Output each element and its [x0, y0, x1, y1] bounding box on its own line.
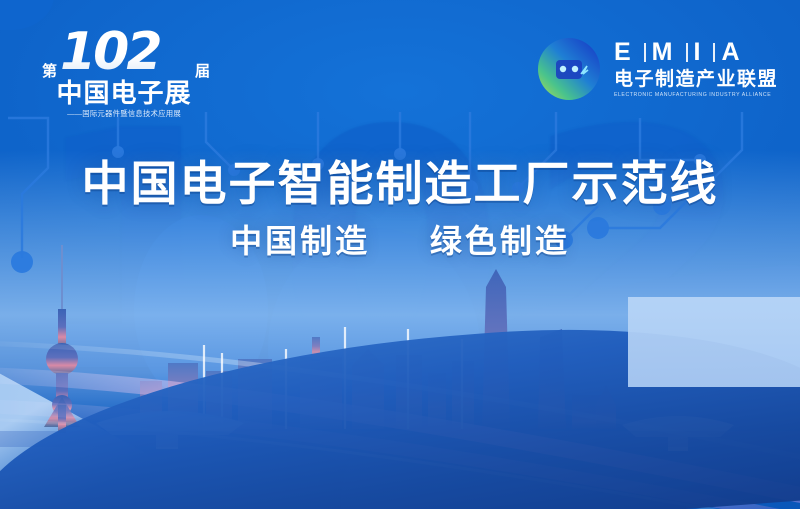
acronym-separator-bar [644, 43, 646, 62]
exhibition-logo[interactable]: 第 102 届 中国电子展 ——国际元器件暨信息技术应用展 [38, 30, 210, 130]
alliance-logo-text: E M I A 电子制造产业联盟 ELECTRONIC MANUFACTURIN… [614, 40, 778, 98]
acronym-letter-e: E [614, 40, 638, 65]
acronym-separator-bar [686, 43, 688, 62]
edition-prefix-label: 第 [42, 64, 57, 79]
alliance-acronym: E M I A [614, 40, 778, 65]
acronym-letter-i: I [694, 40, 708, 65]
subtitle-right: 绿色制造 [430, 223, 570, 259]
alliance-english-tagline: ELECTRONIC MANUFACTURING INDUSTRY ALLIAN… [614, 93, 778, 98]
edition-suffix-label: 届 [195, 64, 210, 79]
acronym-letter-m: M [652, 40, 680, 65]
exhibition-banner: 102 [0, 0, 800, 509]
acronym-separator-bar [713, 43, 715, 62]
exhibition-subtitle: ——国际元器件暨信息技术应用展 [38, 110, 210, 117]
alliance-chinese-name: 电子制造产业联盟 [614, 70, 778, 89]
exhibition-name: 中国电子展 [38, 80, 210, 107]
page-subtitle: 中国制造 绿色制造 [0, 222, 800, 260]
circular-chip-gradient-icon [536, 36, 602, 102]
subtitle-left: 中国制造 [230, 223, 370, 259]
page-title: 中国电子智能制造工厂示范线 [0, 158, 800, 211]
alliance-logo[interactable]: E M I A 电子制造产业联盟 ELECTRONIC MANUFACTURIN… [536, 36, 778, 102]
acronym-letter-a: A [721, 40, 746, 65]
exhibition-logo-edition-row: 第 102 届 [38, 30, 210, 82]
decorative-panel [628, 297, 800, 387]
edition-number: 102 [60, 26, 160, 78]
